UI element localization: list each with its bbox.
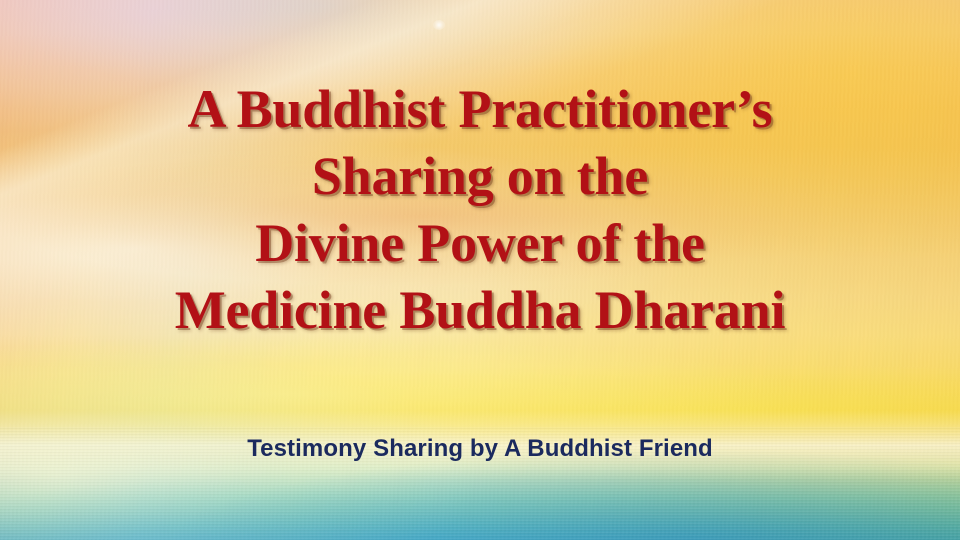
slide-content: A Buddhist Practitioner’s Sharing on the…	[0, 0, 960, 540]
title-line-4: Medicine Buddha Dharani	[0, 277, 960, 344]
slide-subtitle: Testimony Sharing by A Buddhist Friend	[0, 434, 960, 464]
title-slide: A Buddhist Practitioner’s Sharing on the…	[0, 0, 960, 540]
title-line-3: Divine Power of the	[0, 210, 960, 277]
title-line-1: A Buddhist Practitioner’s	[0, 76, 960, 143]
slide-title: A Buddhist Practitioner’s Sharing on the…	[0, 76, 960, 344]
title-line-2: Sharing on the	[0, 143, 960, 210]
